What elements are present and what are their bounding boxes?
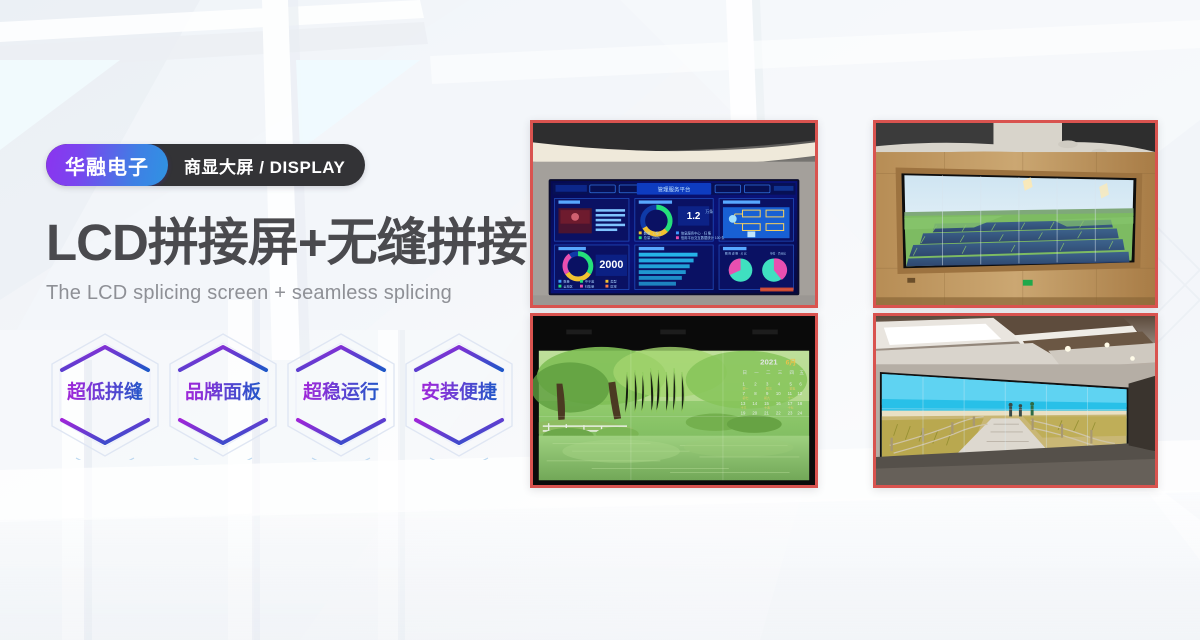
svg-text:19: 19 bbox=[741, 411, 746, 416]
svg-text:23: 23 bbox=[788, 411, 793, 416]
svg-text:五: 五 bbox=[799, 370, 804, 375]
feature-badge: 超低拼缝 bbox=[46, 330, 164, 450]
photo-solar-farm-video-wall[interactable] bbox=[873, 120, 1158, 308]
svg-text:图 例 说 明 · 占 比: 图 例 说 明 · 占 比 bbox=[725, 252, 747, 256]
svg-text:18: 18 bbox=[797, 401, 802, 406]
svg-text:区域: 区域 bbox=[610, 284, 616, 289]
svg-text:信息服务中心 · 归 集: 信息服务中心 · 归 集 bbox=[681, 230, 712, 235]
svg-text:16: 16 bbox=[776, 401, 781, 406]
svg-text:初七: 初七 bbox=[743, 395, 749, 400]
feature-badge-label: 安装便捷 bbox=[421, 377, 497, 404]
svg-text:22: 22 bbox=[776, 411, 781, 416]
svg-text:2021: 2021 bbox=[760, 357, 778, 366]
svg-text:总量 100%: 总量 100% bbox=[644, 235, 660, 240]
brand-category-label: 商显大屏 / DISPLAY bbox=[168, 144, 365, 186]
photo-grid: 管理服务平台 bbox=[0, 0, 1200, 640]
svg-text:24: 24 bbox=[797, 411, 802, 416]
svg-text:1.2: 1.2 bbox=[687, 211, 701, 222]
feature-badge-list: 超低拼缝 品牌面板 超稳运行 bbox=[46, 330, 518, 450]
svg-text:十一: 十一 bbox=[788, 395, 794, 400]
svg-text:归集量: 归集量 bbox=[585, 284, 594, 289]
photo-dashboard-video-wall[interactable]: 管理服务平台 bbox=[530, 120, 818, 308]
svg-text:十五: 十五 bbox=[764, 405, 770, 410]
svg-text:21: 21 bbox=[764, 411, 769, 416]
svg-text:数量 （ 份 ）: 数量 （ 份 ） bbox=[644, 230, 663, 235]
svg-text:信用平台交互数据统计 100 条: 信用平台交互数据统计 100 条 bbox=[681, 235, 726, 240]
feature-badge: 安装便捷 bbox=[400, 330, 518, 450]
svg-text:三: 三 bbox=[778, 370, 783, 375]
photo-willow-lake-video-wall[interactable]: 2021 6月 日一二 三四五 123 456 789 101112 13141… bbox=[530, 313, 818, 488]
feature-badge-label: 超稳运行 bbox=[303, 377, 379, 404]
svg-text:十七: 十七 bbox=[788, 405, 794, 410]
svg-text:类型: 类型 bbox=[610, 279, 616, 284]
svg-text:初九: 初九 bbox=[764, 395, 770, 400]
svg-text:20: 20 bbox=[752, 411, 757, 416]
svg-text:初五: 初五 bbox=[790, 385, 796, 390]
brand-pill: 华融电子 商显大屏 / DISPLAY bbox=[46, 144, 365, 186]
svg-text:十三: 十三 bbox=[741, 405, 747, 410]
dashboard-video-wall-image: 管理服务平台 bbox=[533, 123, 815, 305]
svg-text:二: 二 bbox=[766, 370, 771, 375]
solar-farm-video-wall-image bbox=[876, 123, 1155, 305]
svg-text:初三: 初三 bbox=[766, 385, 772, 390]
svg-text:一: 一 bbox=[754, 370, 759, 375]
feature-badge-label: 超低拼缝 bbox=[67, 377, 143, 404]
feature-badge-label: 品牌面板 bbox=[185, 377, 261, 404]
svg-text:2000: 2000 bbox=[599, 259, 623, 271]
svg-text:6月: 6月 bbox=[786, 358, 797, 366]
svg-text:10: 10 bbox=[776, 391, 781, 396]
svg-text:14: 14 bbox=[752, 401, 757, 406]
feature-badge: 品牌面板 bbox=[164, 330, 282, 450]
svg-text:单位 · 百分比: 单位 · 百分比 bbox=[770, 252, 786, 256]
svg-text:管理服务平台: 管理服务平台 bbox=[658, 186, 691, 194]
willow-lake-video-wall-image: 2021 6月 日一二 三四五 123 456 789 101112 13141… bbox=[533, 316, 815, 485]
feature-badge: 超稳运行 bbox=[282, 330, 400, 450]
photo-beach-boardwalk-video-wall[interactable] bbox=[873, 313, 1158, 488]
svg-text:中子监: 中子监 bbox=[585, 279, 594, 284]
svg-text:万条: 万条 bbox=[705, 209, 713, 214]
svg-text:12: 12 bbox=[797, 391, 802, 396]
svg-text:初一: 初一 bbox=[743, 385, 749, 390]
svg-text:全地区: 全地区 bbox=[563, 284, 572, 289]
page-subtitle: The LCD splicing screen + seamless splic… bbox=[46, 282, 516, 305]
brand-chip: 华融电子 bbox=[46, 144, 168, 186]
promo-banner: 华融电子 商显大屏 / DISPLAY LCD拼接屏+无缝拼接 The LCD … bbox=[0, 0, 1200, 640]
headline-block: 华融电子 商显大屏 / DISPLAY LCD拼接屏+无缝拼接 The LCD … bbox=[46, 144, 516, 305]
svg-text:数量: 数量 bbox=[563, 279, 569, 284]
page-title: LCD拼接屏+无缝拼接 bbox=[46, 216, 516, 270]
svg-text:四: 四 bbox=[790, 370, 795, 375]
beach-boardwalk-video-wall-image bbox=[876, 316, 1155, 485]
